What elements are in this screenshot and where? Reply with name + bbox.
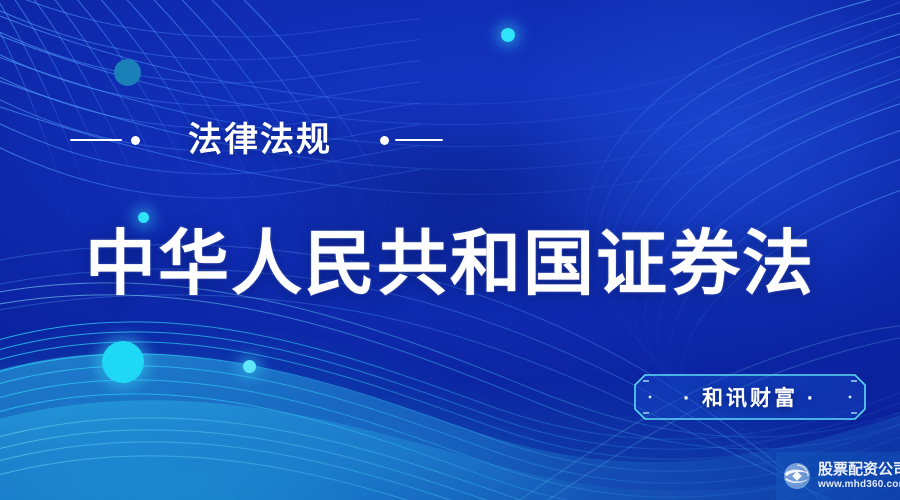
subtitle-left-line-icon: [70, 139, 122, 141]
cyan-circle-large-decoration: [102, 341, 144, 383]
watermark-site-name: 股票配资公司: [818, 462, 900, 477]
cyan-dot-mid-decoration: [138, 212, 149, 223]
page-title: 中华人民共和国证券法: [0, 229, 900, 300]
teal-circle-decoration: [114, 59, 141, 86]
watermark: 股票配资公司 www.mhd360.com: [776, 452, 900, 500]
globe-swoosh-logo-icon: [782, 461, 812, 491]
watermark-url: www.mhd360.com: [818, 480, 900, 490]
promo-banner: 法律法规 中华人民共和国证券法 · 和讯财富 ·: [0, 0, 900, 500]
subtitle-right-dot-icon: [380, 136, 389, 145]
subtitle-row: 法律法规: [70, 112, 443, 168]
brand-badge: · 和讯财富 ·: [634, 374, 866, 420]
cyan-dot-top-decoration: [501, 28, 515, 42]
cyan-dot-small-decoration: [243, 360, 256, 373]
subtitle-text: 法律法规: [188, 123, 332, 157]
brand-badge-label: · 和讯财富 ·: [683, 382, 817, 412]
subtitle-left-dot-icon: [131, 136, 140, 145]
watermark-text-block: 股票配资公司 www.mhd360.com: [818, 462, 900, 490]
subtitle-right-line-icon: [395, 139, 443, 141]
